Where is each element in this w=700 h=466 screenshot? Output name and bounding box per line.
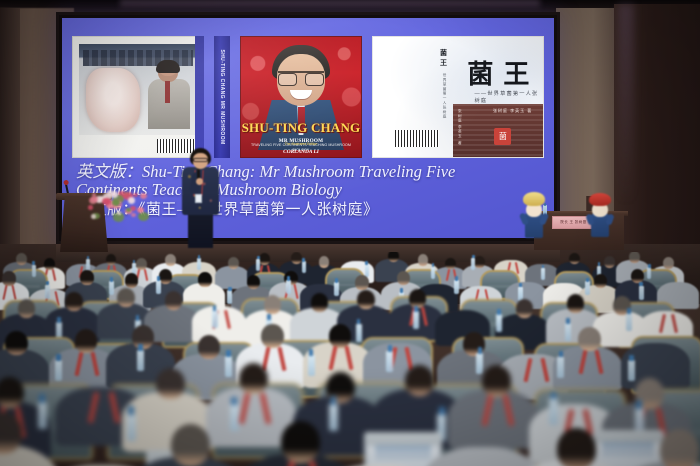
audience-member-head: [18, 299, 36, 318]
audience-member-head: [647, 324, 669, 348]
water-bottle-icon: [585, 281, 590, 295]
jacket-color-band: 张树庭 李英玉 著 张树庭 李英玉 著 菌: [453, 104, 543, 157]
audience-member-head: [388, 252, 399, 262]
jacket-spine-title: 菌王: [439, 49, 449, 69]
water-bottle-icon: [230, 404, 239, 431]
ceiling-light-glow: [120, 0, 540, 9]
mushroom-mascot-yellow: [521, 192, 547, 238]
audience-member-head: [563, 380, 592, 411]
audience-member-head: [578, 327, 600, 351]
audience-member-head: [198, 272, 212, 287]
photo-researcher: [146, 62, 192, 132]
barcode-icon: [395, 130, 439, 147]
water-bottle-icon: [86, 259, 90, 271]
audience-member-head: [520, 270, 534, 285]
jacket-title: 菌王: [467, 54, 539, 91]
water-bottle-icon: [356, 324, 362, 342]
wall-right-light-sheen: [618, 4, 634, 204]
cover-edition: The Illustrated Edition: [241, 142, 361, 146]
audience-member-head: [132, 325, 154, 349]
audience-member-head: [364, 432, 403, 466]
photo-mushroom-pile: [86, 68, 140, 132]
audience-member-head: [431, 273, 445, 288]
water-bottle-icon: [628, 360, 635, 381]
audience-member-head: [281, 421, 320, 463]
audience-member-head: [557, 428, 596, 466]
water-bottle-icon: [476, 353, 483, 374]
water-bottle-icon: [647, 267, 651, 279]
audience-member-head: [65, 292, 83, 311]
audience-member-head: [311, 293, 329, 312]
audience-member-head: [558, 272, 572, 287]
podium-flowers: [88, 188, 148, 222]
glasses-icon: [278, 71, 324, 83]
water-bottle-icon: [413, 311, 419, 329]
jacket-subtitle: ——世界草菌第一人张树庭: [475, 90, 543, 104]
audience-member-head: [259, 253, 270, 265]
book-back-cover: [72, 36, 204, 158]
audience-member-head: [247, 275, 261, 290]
audience-member-head: [125, 273, 139, 288]
cover-title: SHU-TING CHANG: [241, 121, 361, 134]
slide-caption-line-1: 英文版：Shu-Ting Chang: Mr Mushroom Travelin…: [76, 163, 544, 181]
water-bottle-icon: [302, 261, 306, 273]
water-bottle-icon: [127, 414, 136, 441]
cover-author: CORLANDA LI: [241, 149, 361, 155]
audience-member-head: [88, 362, 117, 393]
audience-member-head: [117, 288, 135, 307]
audience-member-head: [198, 335, 220, 359]
audience-member-head: [482, 365, 511, 396]
audience-member-head: [467, 414, 506, 456]
audience-member-head: [5, 331, 27, 355]
presenter: [178, 148, 222, 248]
audience-member-head: [329, 324, 351, 348]
audience-member-head: [663, 257, 674, 269]
audience-member-head: [569, 253, 580, 265]
glasses-icon: [193, 158, 208, 162]
water-bottle-icon: [454, 280, 459, 294]
audience-member-head: [353, 252, 364, 264]
laptop-screen: [592, 430, 664, 466]
audience-member-head: [567, 294, 585, 313]
jacket-spine-subtitle: 世界草菌第一人张树庭: [443, 73, 448, 119]
audience-member-shoulders: [192, 306, 247, 342]
water-bottle-icon: [557, 357, 564, 378]
slide-cover-row: SHU-TING CHANG MR MUSHROOM SHU-TING C: [72, 36, 544, 158]
audience-member-head: [156, 368, 185, 399]
water-bottle-icon: [212, 310, 218, 328]
book-spine-text: SHU-TING CHANG MR MUSHROOM: [219, 49, 225, 144]
audience-member-head: [660, 429, 699, 466]
water-bottle-icon: [256, 259, 260, 271]
audience-member-head: [2, 271, 16, 286]
audience-member-head: [397, 271, 411, 286]
audience-member-head: [357, 290, 375, 309]
water-bottle-icon: [38, 402, 47, 429]
laptop-display: [594, 442, 662, 466]
audience-member-head: [524, 336, 546, 360]
water-bottle-icon: [471, 258, 475, 270]
audience-member-head: [264, 295, 282, 314]
audience-member-head: [315, 273, 329, 288]
audience-member-head: [418, 254, 429, 266]
audience-member-head: [659, 296, 677, 315]
audience-member-head: [16, 253, 27, 265]
chinese-book-jacket: 菌王 世界草菌第一人张树庭 菌王 ——世界草菌第一人张树庭 张树庭 李英玉 著 …: [372, 36, 544, 158]
audience-member-head: [136, 258, 147, 270]
audience-member-head: [228, 257, 239, 269]
back-cover-photo: [79, 44, 197, 135]
water-bottle-icon: [386, 351, 393, 372]
name-badge: [195, 194, 202, 203]
water-bottle-icon: [156, 280, 161, 294]
english-book-front-cover: SHU-TING CHANG MR MUSHROOM TRAVELING FIV…: [240, 36, 362, 158]
water-bottle-icon: [565, 323, 571, 341]
water-bottle-icon: [626, 313, 632, 331]
water-bottle-icon: [496, 314, 502, 332]
jacket-authors: 张树庭 李英玉 著: [493, 108, 532, 114]
water-bottle-icon: [308, 355, 315, 376]
audience-member-head: [405, 365, 434, 396]
audience-member-head: [291, 252, 302, 264]
audience-member-head: [261, 324, 283, 348]
audience-member-head: [171, 424, 210, 466]
water-bottle-icon: [541, 268, 545, 280]
water-bottle-icon: [32, 265, 36, 277]
audience-member-head: [75, 329, 97, 353]
water-bottle-icon: [45, 285, 50, 299]
mushroom-mascot-red: [587, 193, 613, 237]
audience-area: [0, 252, 700, 466]
audience-member-head: [475, 275, 489, 290]
conference-photo: SHU-TING CHANG MR MUSHROOM SHU-TING C: [0, 0, 700, 466]
audience-member-head: [319, 256, 330, 268]
audience-member-head: [389, 325, 411, 349]
audience-member-head: [0, 377, 24, 408]
audience-member-head: [355, 275, 369, 290]
audience-member-head: [604, 256, 615, 268]
water-bottle-icon: [549, 398, 558, 425]
audience-member-head: [474, 256, 485, 268]
audience-member-head: [87, 432, 126, 466]
cover-edge: [195, 36, 204, 158]
audience-member-head: [629, 252, 640, 263]
water-bottle-icon: [639, 286, 644, 300]
audience-member-head: [165, 291, 183, 310]
jacket-seal: 菌: [494, 128, 511, 145]
audience-member-head: [672, 270, 686, 285]
jacket-authors-vertical: 张树庭 李英玉 著: [458, 109, 463, 145]
water-bottle-icon: [334, 282, 339, 296]
jacket-front-panel: 菌王 世界草菌第一人张树庭 菌王 ——世界草菌第一人张树庭 张树庭 李英玉 著 …: [453, 37, 543, 157]
audience-member-head: [455, 295, 473, 314]
water-bottle-icon: [329, 404, 338, 431]
water-bottle-icon: [286, 280, 291, 294]
water-bottle-icon: [197, 258, 201, 270]
water-bottle-icon: [137, 350, 144, 371]
wall-left-edge: [0, 8, 20, 276]
water-bottle-icon: [55, 360, 62, 381]
audience-member-head: [165, 254, 176, 266]
audience-member-head: [239, 363, 268, 394]
water-bottle-icon: [225, 356, 232, 377]
audience-member-head: [80, 270, 94, 285]
water-bottle-icon: [109, 281, 114, 295]
book-spine: SHU-TING CHANG MR MUSHROOM: [214, 36, 230, 158]
